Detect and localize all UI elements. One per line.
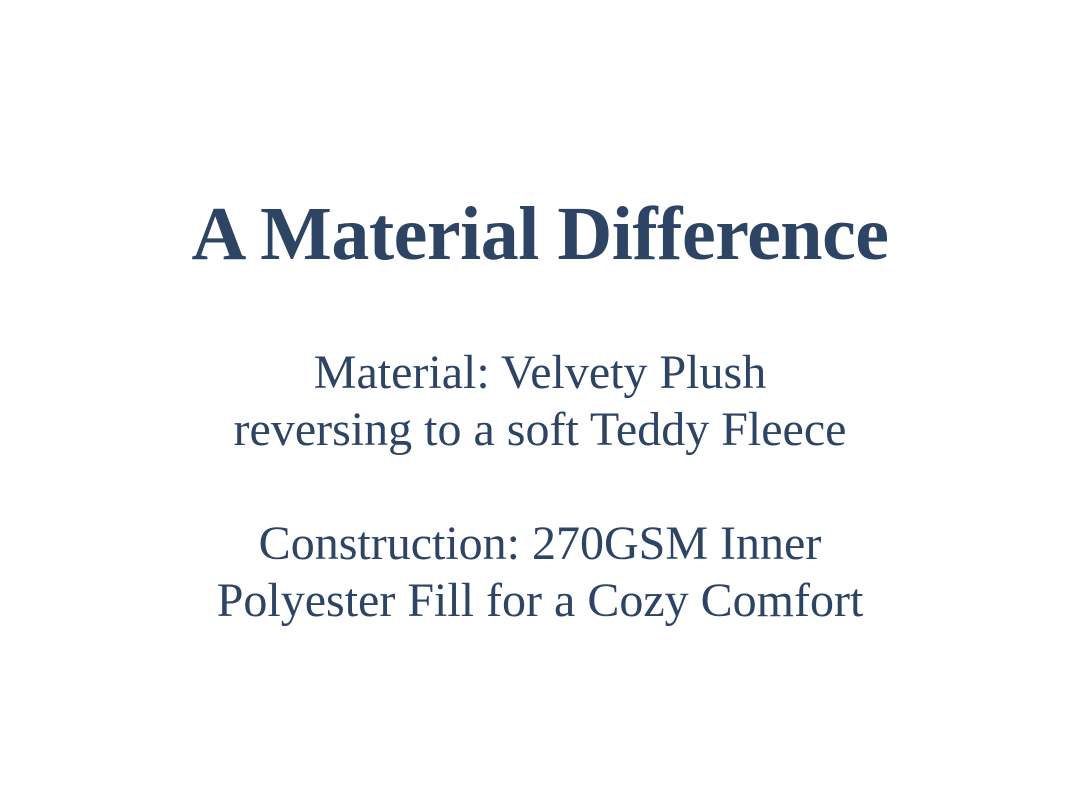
page-title: A Material Difference: [40, 0, 1040, 272]
construction-spec-line-1: Construction: 270GSM Inner: [40, 515, 1040, 572]
material-spec-block: Material: Velvety Plush reversing to a s…: [40, 344, 1040, 458]
construction-spec-line-2: Polyester Fill for a Cozy Comfort: [40, 572, 1040, 629]
material-spec-line-1: Material: Velvety Plush: [40, 344, 1040, 401]
slide-canvas: A Material Difference Material: Velvety …: [0, 0, 1080, 800]
slide-content: A Material Difference Material: Velvety …: [40, 0, 1040, 629]
construction-spec-block: Construction: 270GSM Inner Polyester Fil…: [40, 515, 1040, 629]
material-spec-line-2: reversing to a soft Teddy Fleece: [40, 401, 1040, 458]
